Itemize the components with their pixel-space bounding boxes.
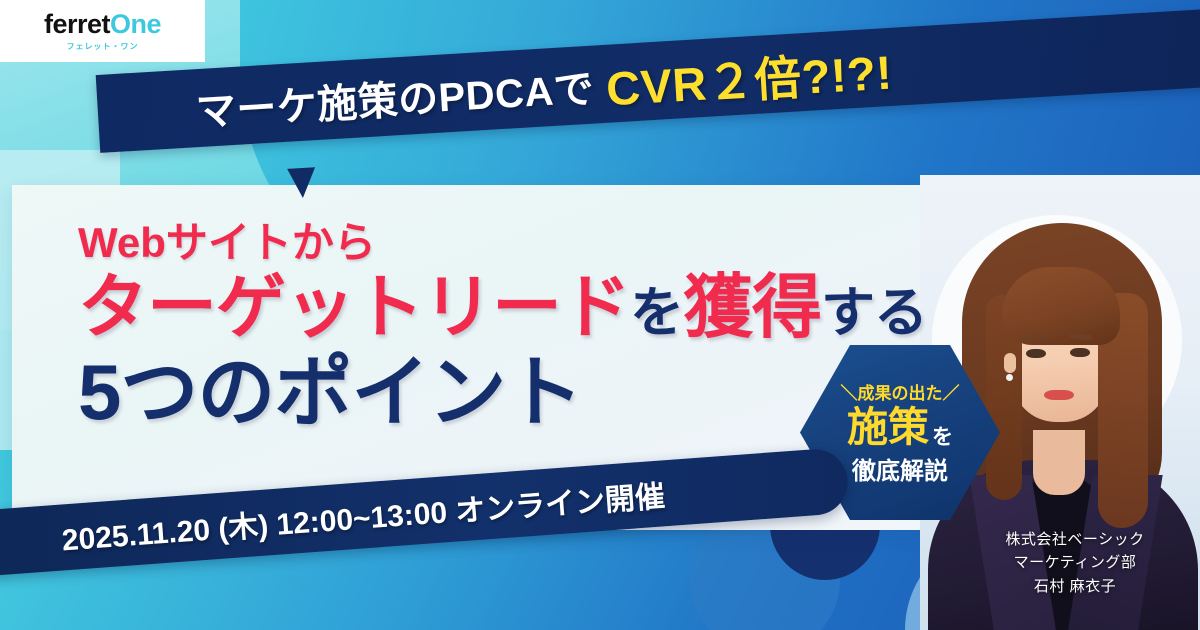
hair-front (1002, 267, 1120, 345)
neck (1033, 430, 1085, 495)
badge-keyword: 施策 (847, 407, 929, 448)
eye-right (1070, 348, 1090, 357)
headline-particle-wo: を (630, 283, 683, 343)
headline-target-lead: ターゲットリード (78, 268, 630, 346)
speaker-credit: 株式会社ベーシック マーケティング部 石村 麻衣子 (960, 528, 1190, 598)
brand-logo[interactable]: ferretOne フェレット・ワン (0, 0, 205, 62)
logo-subtitle: フェレット・ワン (67, 41, 139, 52)
headline-line-2: ターゲットリードを獲得する (78, 270, 1008, 346)
speaker-company: 株式会社ベーシック (960, 528, 1190, 551)
ribbon-tail-icon (287, 167, 317, 199)
badge-bottom-text: 徹底解説 (852, 451, 948, 486)
badge-particle-wo: を (932, 427, 953, 448)
eye-left (1026, 349, 1046, 358)
logo-text-ferret: ferret (44, 9, 110, 39)
badge-mid-row: 施策 を (847, 407, 953, 448)
badge-top-text: ＼成果の出た／ (841, 379, 960, 404)
headline-suffix-suru: する (821, 283, 927, 343)
lips (1044, 390, 1074, 400)
headline-kakutoku: 獲得 (683, 268, 821, 346)
webinar-banner: ferretOne フェレット・ワン マーケ施策のPDCAで CVR２倍?!?!… (0, 0, 1200, 630)
speaker-department: マーケティング部 (960, 551, 1190, 574)
logo-wordmark: ferretOne (44, 11, 161, 38)
logo-text-one: One (110, 9, 161, 39)
speaker-name: 石村 麻衣子 (960, 575, 1190, 598)
headline-line-1: Webサイトから (78, 222, 1008, 264)
